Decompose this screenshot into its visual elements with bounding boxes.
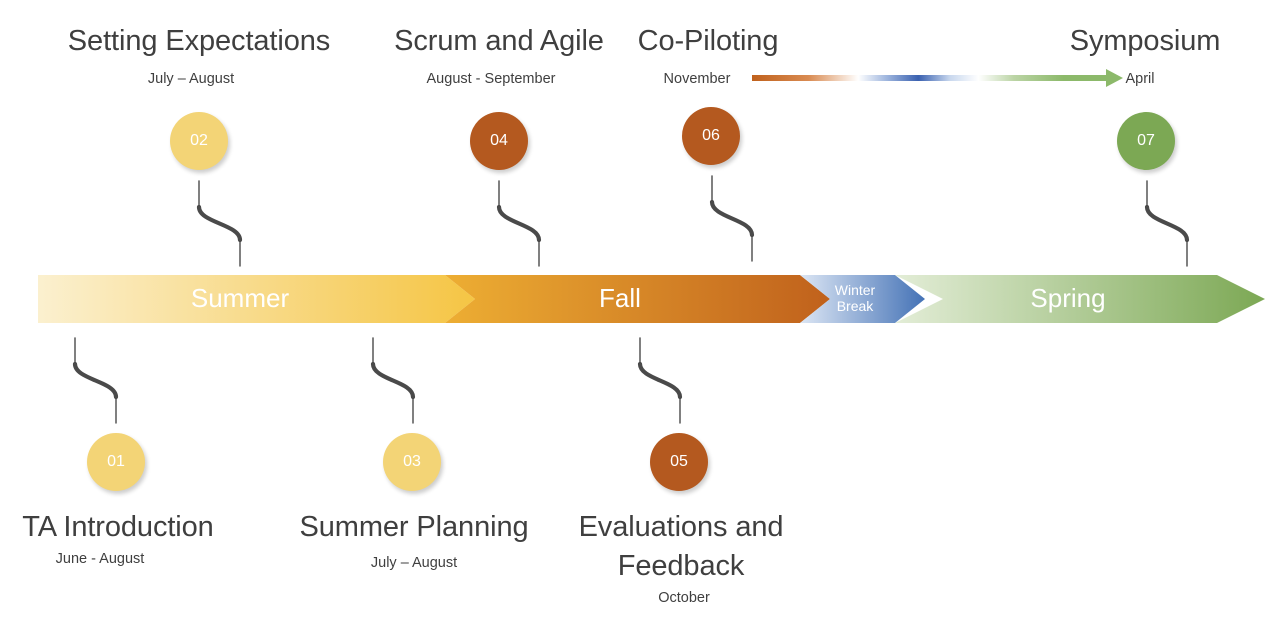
- milestone-title-06: Co-Piloting: [508, 22, 908, 61]
- milestone-bubble-05[interactable]: 05: [650, 433, 708, 491]
- milestone-number: 03: [403, 453, 421, 471]
- milestone-bubble-02[interactable]: 02: [170, 112, 228, 170]
- milestone-period-06: November: [547, 71, 847, 88]
- season-label-spring: Spring: [948, 284, 1188, 313]
- milestone-number: 04: [490, 132, 508, 150]
- milestone-number: 06: [702, 127, 720, 145]
- milestone-period-05: October: [534, 590, 834, 607]
- milestone-number: 05: [670, 453, 688, 471]
- milestone-number: 02: [190, 132, 208, 150]
- milestone-bubble-03[interactable]: 03: [383, 433, 441, 491]
- milestone-bubble-06[interactable]: 06: [682, 107, 740, 165]
- season-label-summer: Summer: [120, 284, 360, 313]
- milestone-bubble-07[interactable]: 07: [1117, 112, 1175, 170]
- timeline-canvas: SummerFallWinter BreakSpring 01TA Introd…: [0, 0, 1286, 634]
- milestone-period-01: June - August: [0, 551, 250, 568]
- connector-curve-07: [1147, 207, 1187, 240]
- milestone-bubble-04[interactable]: 04: [470, 112, 528, 170]
- connector-curve-02: [199, 207, 240, 240]
- milestone-title-05: Evaluations and Feedback: [481, 508, 881, 585]
- milestone-period-02: July – August: [41, 71, 341, 88]
- connector-curve-06: [712, 202, 752, 235]
- milestone-number: 07: [1137, 132, 1155, 150]
- milestone-number: 01: [107, 453, 125, 471]
- connector-curve-01: [75, 364, 116, 397]
- connector-curve-05: [640, 364, 680, 397]
- connector-curve-03: [373, 364, 413, 397]
- season-label-winter-break: Winter Break: [735, 283, 975, 314]
- season-label-fall: Fall: [500, 284, 740, 313]
- connector-curve-04: [499, 207, 539, 240]
- milestone-bubble-01[interactable]: 01: [87, 433, 145, 491]
- milestone-title-07: Symposium: [945, 22, 1286, 61]
- milestone-period-07: April: [990, 71, 1286, 88]
